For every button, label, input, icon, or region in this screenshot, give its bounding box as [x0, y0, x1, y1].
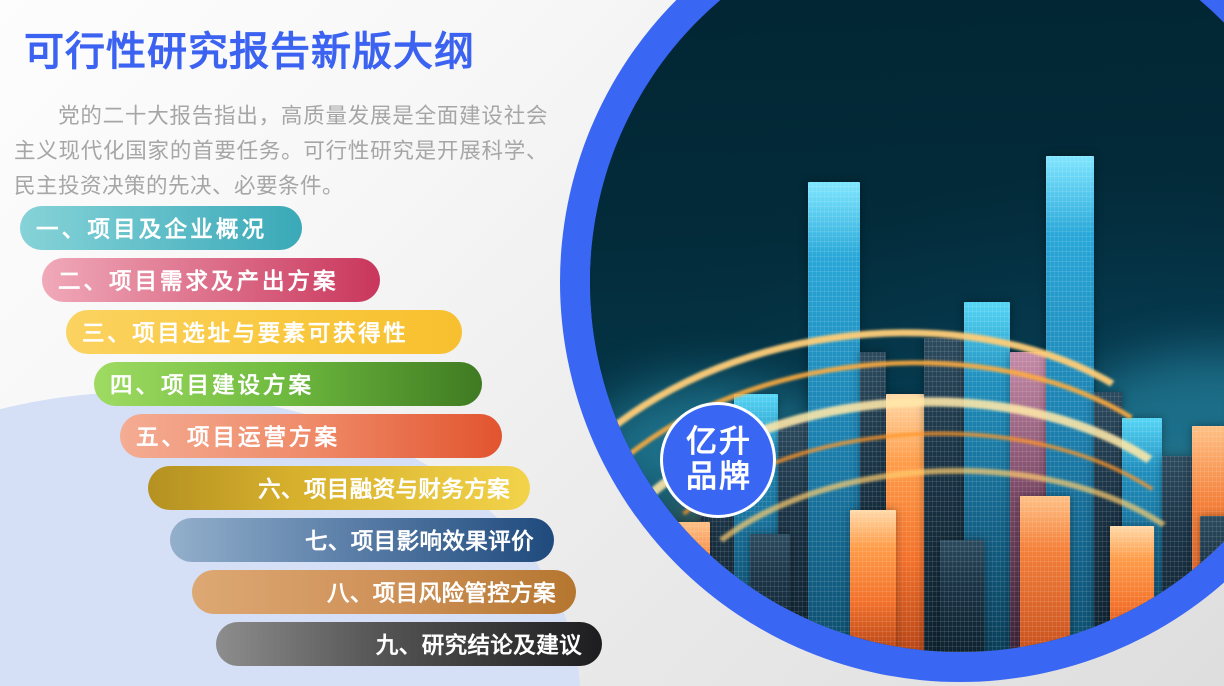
outline-item-7-label: 七、项目影响效果评价: [305, 524, 538, 556]
outline-item-1[interactable]: 一、项目及企业概况: [20, 206, 302, 250]
outline-item-4[interactable]: 四、项目建设方案: [94, 362, 482, 406]
outline-item-6-label: 六、项目融资与财务方案: [258, 472, 514, 504]
outline-item-3[interactable]: 三、项目选址与要素可获得性: [66, 310, 462, 354]
outline-item-3-label: 三、项目选址与要素可获得性: [82, 316, 408, 348]
city-skyline-photo: [590, 0, 1224, 652]
outline-item-9[interactable]: 九、研究结论及建议: [216, 622, 602, 666]
outline-item-8-label: 八、项目风险管控方案: [327, 576, 560, 608]
brand-badge-line2: 品牌: [684, 460, 752, 495]
outline-item-5-label: 五、项目运营方案: [136, 420, 340, 452]
outline-item-2-label: 二、项目需求及产出方案: [58, 264, 339, 296]
city-scene: [590, 0, 1224, 652]
intro-paragraph: 党的二十大报告指出，高质量发展是全面建设社会主义现代化国家的首要任务。可行性研究…: [14, 99, 548, 203]
outline-item-5[interactable]: 五、项目运营方案: [120, 414, 502, 458]
outline-item-8[interactable]: 八、项目风险管控方案: [192, 570, 576, 614]
outline-item-4-label: 四、项目建设方案: [110, 368, 314, 400]
circular-photo-composition: [560, 0, 1224, 682]
outline-item-7[interactable]: 七、项目影响效果评价: [170, 518, 554, 562]
outline-item-1-label: 一、项目及企业概况: [36, 212, 267, 244]
brand-badge: 亿升 品牌: [660, 402, 776, 518]
blue-ring-arc: [560, 0, 1224, 682]
outline-item-2[interactable]: 二、项目需求及产出方案: [42, 258, 380, 302]
outline-item-9-label: 九、研究结论及建议: [376, 628, 586, 660]
poster-canvas: 亿升 品牌 可行性研究报告新版大纲 党的二十大报告指出，高质量发展是全面建设社会…: [0, 0, 1224, 686]
brand-badge-line1: 亿升: [684, 425, 752, 460]
outline-item-6[interactable]: 六、项目融资与财务方案: [148, 466, 530, 510]
page-title: 可行性研究报告新版大纲: [24, 30, 564, 75]
outline-list: 一、项目及企业概况 二、项目需求及产出方案 三、项目选址与要素可获得性 四、项目…: [0, 206, 624, 674]
